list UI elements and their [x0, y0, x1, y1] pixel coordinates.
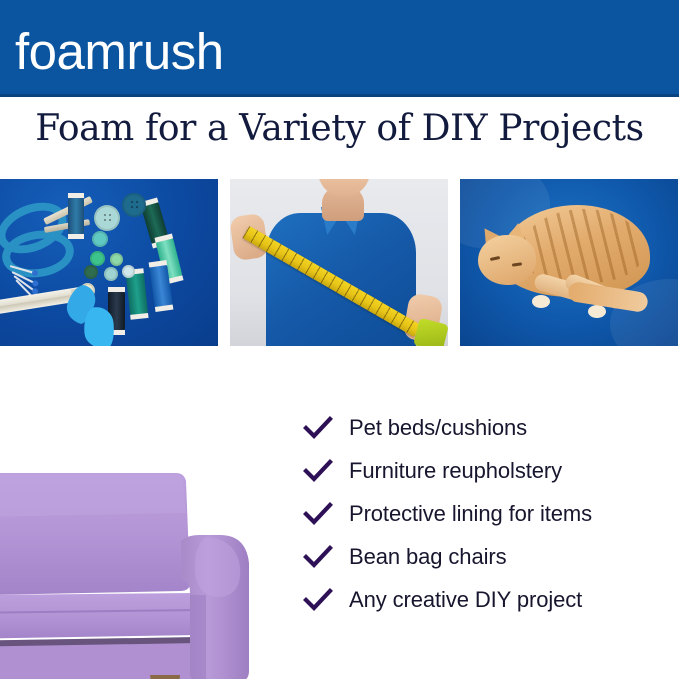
check-icon [303, 459, 333, 483]
lavender-sofa-illustration [0, 443, 288, 679]
thread-spool [126, 272, 148, 316]
thread-spool [68, 197, 84, 235]
feature-list: Pet beds/cushions Furniture reupholstery… [303, 406, 679, 621]
cat-on-cushion-photo [460, 179, 678, 346]
tape-measure-photo [230, 179, 448, 346]
check-icon [303, 416, 333, 440]
button-notion [84, 265, 98, 279]
button-notion [122, 193, 146, 217]
list-item: Any creative DIY project [303, 578, 679, 621]
cat-paw [532, 295, 550, 308]
page-title: Foam for a Variety of DIY Projects [0, 108, 679, 149]
list-item: Furniture reupholstery [303, 449, 679, 492]
button-notion [122, 265, 135, 278]
brand-header-band: foamrush [0, 0, 679, 97]
list-item: Pet beds/cushions [303, 406, 679, 449]
sewing-supplies-photo [0, 179, 218, 346]
list-item-label: Furniture reupholstery [349, 458, 562, 484]
list-item-label: Bean bag chairs [349, 544, 507, 570]
list-item-label: Any creative DIY project [349, 587, 582, 613]
brand-logo: foamrush [15, 26, 224, 77]
list-item: Protective lining for items [303, 492, 679, 535]
check-icon [303, 545, 333, 569]
button-notion [90, 251, 105, 266]
cat-paw [588, 305, 606, 318]
check-icon [303, 502, 333, 526]
check-icon [303, 588, 333, 612]
tape-measure-case [413, 318, 448, 346]
list-item: Bean bag chairs [303, 535, 679, 578]
infographic-page: foamrush Foam for a Variety of DIY Proje… [0, 0, 679, 679]
list-item-label: Pet beds/cushions [349, 415, 527, 441]
button-notion [92, 231, 108, 247]
cat-head [478, 235, 536, 285]
button-notion [110, 253, 123, 266]
photo-strip [0, 179, 679, 346]
button-notion [104, 267, 118, 281]
button-notion [94, 205, 120, 231]
list-item-label: Protective lining for items [349, 501, 592, 527]
